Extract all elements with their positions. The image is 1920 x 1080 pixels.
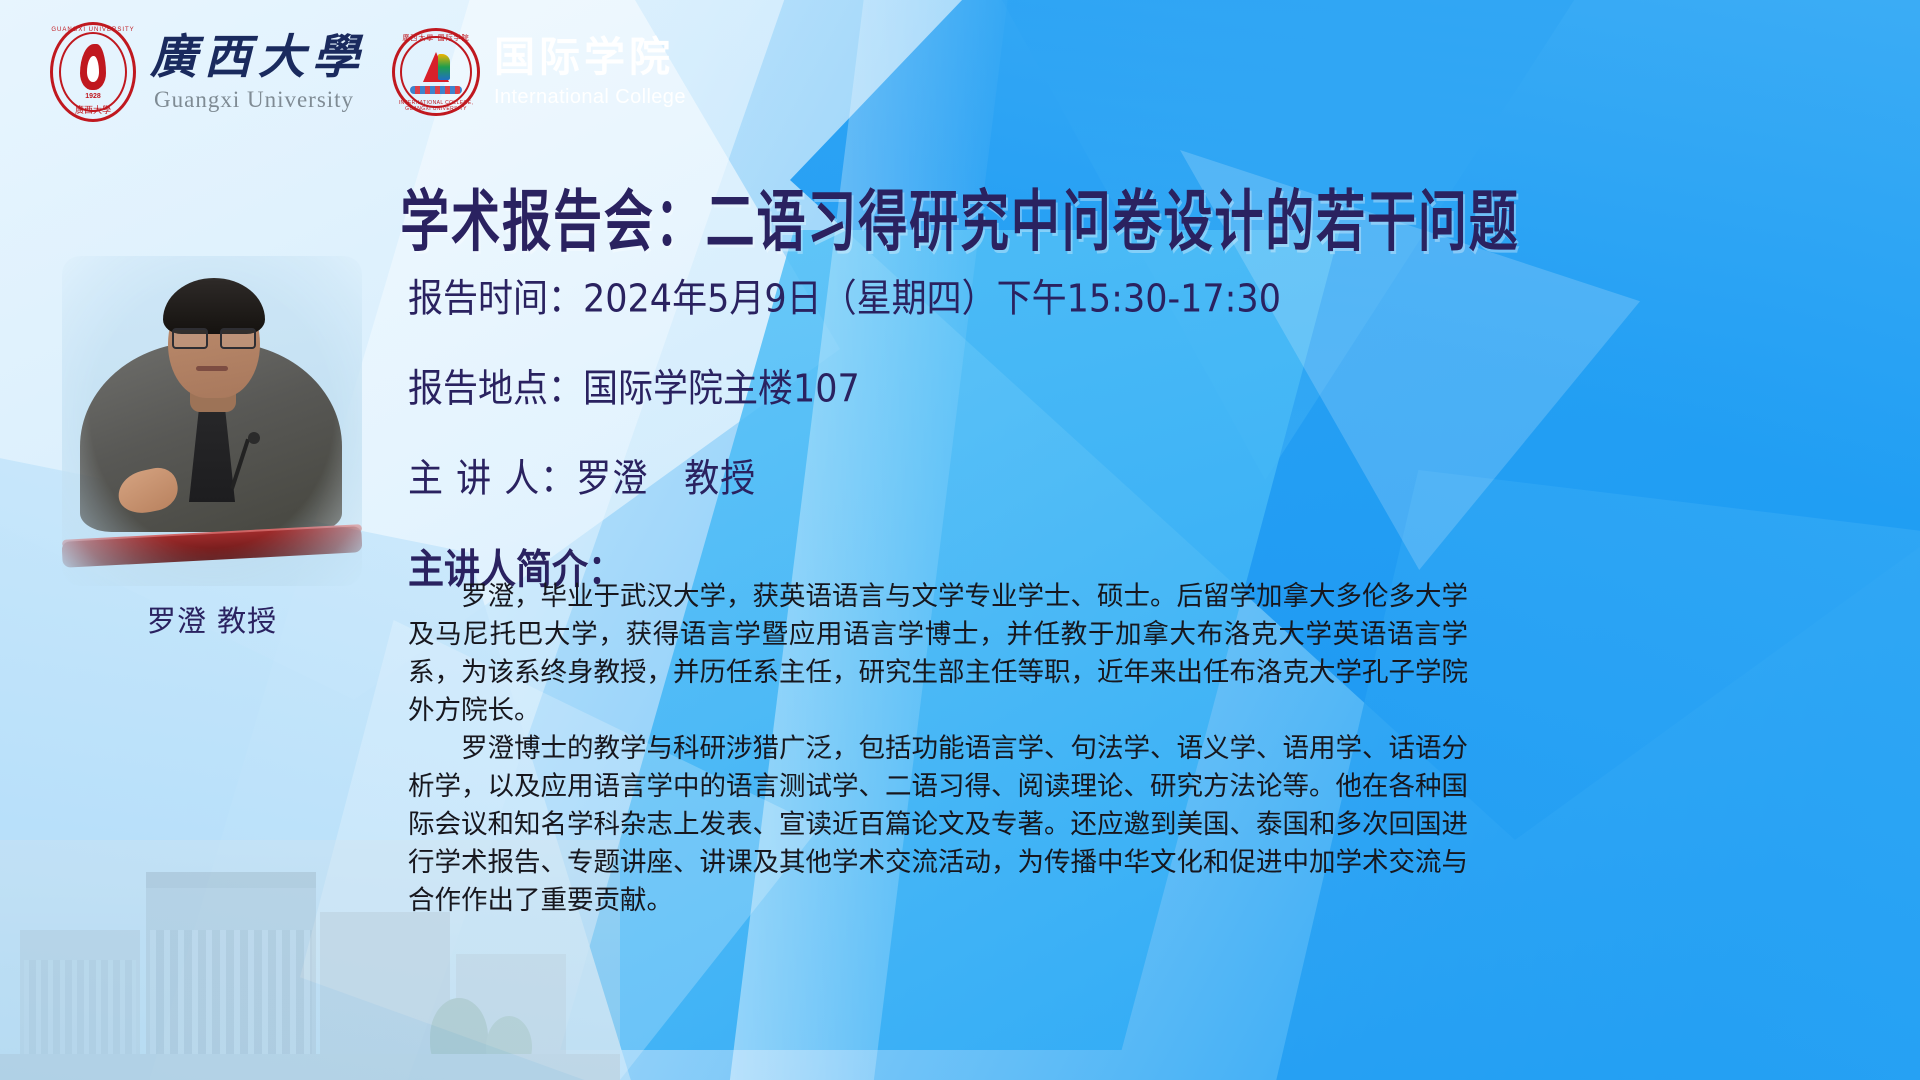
- speaker-portrait-image: [62, 256, 362, 586]
- poster-title: 学术报告会：二语习得研究中问卷设计的若干问题: [38, 168, 1881, 264]
- university-names: 廣西大學 Guangxi University: [150, 34, 366, 111]
- seal-arc-text: GUANGXI UNIVERSITY: [50, 27, 136, 33]
- header-logos: GUANGXI UNIVERSITY 1928 廣西大學 廣西大學 Guangx…: [50, 22, 686, 122]
- bio-paragraph-1: 罗澄，毕业于武汉大学，获英语语言与文学专业学士、硕士。后留学加拿大多伦多大学及马…: [408, 578, 1468, 730]
- info-line-venue: 报告地点：国际学院主楼107: [408, 357, 1498, 413]
- university-logo-block: GUANGXI UNIVERSITY 1928 廣西大學 廣西大學 Guangx…: [50, 22, 366, 122]
- guangxi-university-seal-icon: GUANGXI UNIVERSITY 1928 廣西大學: [50, 22, 136, 122]
- seal-year: 1928: [50, 93, 136, 100]
- university-name-cn: 廣西大學: [150, 34, 366, 81]
- college-seal-arc-text-en: INTERNATIONAL COLLEGE, GUANGXI UNIVERSIT…: [392, 100, 480, 112]
- speaker-photo: [62, 256, 362, 586]
- international-college-seal-icon: 廣西大學 国际学院 INTERNATIONAL COLLEGE, GUANGXI…: [392, 28, 480, 116]
- speaker-photo-caption: 罗澄 教授: [62, 598, 362, 640]
- speaker-biography: 罗澄，毕业于武汉大学，获英语语言与文学专业学士、硕士。后留学加拿大多伦多大学及马…: [408, 578, 1468, 920]
- bio-paragraph-2: 罗澄博士的教学与科研涉猎广泛，包括功能语言学、句法学、语义学、语用学、话语分析学…: [408, 730, 1468, 920]
- college-names: 国际学院 International College: [494, 37, 686, 107]
- glasses-icon: [172, 328, 256, 345]
- info-line-datetime: 报告时间：2024年5月9日（星期四）下午15:30-17:30: [408, 267, 1498, 323]
- college-name-cn: 国际学院: [494, 37, 686, 78]
- lecture-poster: GUANGXI UNIVERSITY 1928 廣西大學 廣西大學 Guangx…: [0, 0, 1920, 1080]
- university-name-en: Guangxi University: [154, 88, 366, 111]
- microphone-icon: [248, 432, 260, 444]
- info-line-speaker: 主 讲 人：罗澄 教授: [408, 447, 1498, 503]
- poster-info-block: 报告时间：2024年5月9日（星期四）下午15:30-17:30 报告地点：国际…: [408, 270, 1498, 592]
- college-logo-block: 廣西大學 国际学院 INTERNATIONAL COLLEGE, GUANGXI…: [392, 28, 686, 116]
- college-name-en: International College: [494, 87, 686, 107]
- college-seal-arc-text-cn: 廣西大學 国际学院: [392, 33, 480, 43]
- seal-name-cn: 廣西大學: [50, 103, 136, 116]
